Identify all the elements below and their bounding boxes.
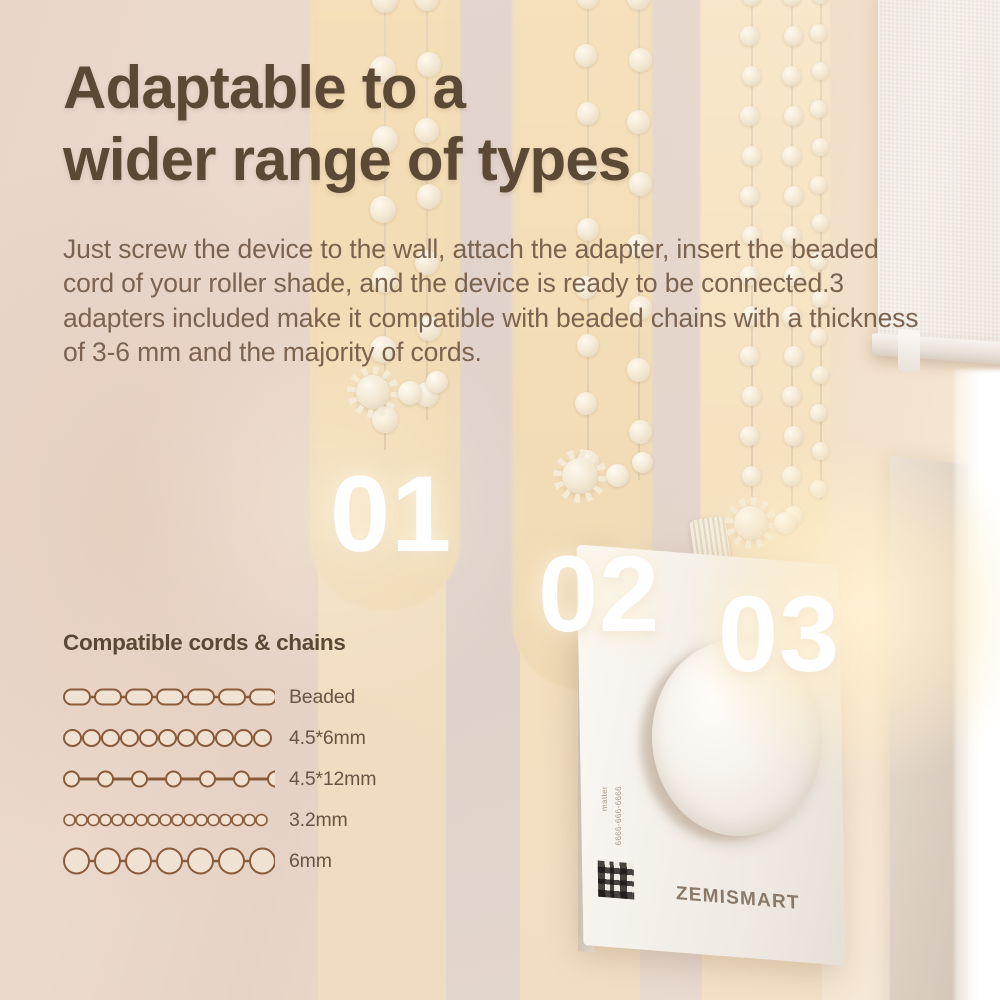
matter-label: matter xyxy=(600,786,609,812)
page-title: Adaptable to a wider range of types xyxy=(63,52,763,196)
chain-bead xyxy=(742,386,761,406)
legend-label: 6mm xyxy=(289,850,332,873)
adapter-bead xyxy=(606,464,629,487)
adapter-gear-icon xyxy=(562,458,598,494)
chain-bead xyxy=(784,106,803,126)
legend-row: 3.2mm xyxy=(63,801,483,839)
legend-label: 4.5*12mm xyxy=(289,768,376,791)
chain-bead xyxy=(810,404,827,422)
adapter-gear-icon xyxy=(356,375,390,409)
legend-title: Compatible cords & chains xyxy=(63,630,483,656)
matter-code: 6666-666-6666 xyxy=(614,786,623,846)
chain-bead xyxy=(810,100,827,118)
chain-beaded-oval-icon xyxy=(63,682,275,712)
step-number-01: 01 xyxy=(330,460,452,568)
adapter-bead xyxy=(398,381,422,405)
chain-bead xyxy=(812,138,829,156)
legend-label: 4.5*6mm xyxy=(289,727,366,750)
chain-45x12-icon xyxy=(63,764,275,794)
chain-32mm-icon xyxy=(63,805,275,835)
chain-bead xyxy=(812,214,829,232)
legend-label: Beaded xyxy=(289,686,355,709)
heading-line-1: Adaptable to a xyxy=(63,52,763,124)
legend-row-list: Beaded4.5*6mm4.5*12mm3.2mm6mm xyxy=(63,678,483,880)
legend-row: 6mm xyxy=(63,842,483,880)
legend-row: 4.5*6mm xyxy=(63,719,483,757)
legend-label: 3.2mm xyxy=(289,809,348,832)
chain-bead xyxy=(629,420,652,444)
adapter-bead xyxy=(426,371,448,393)
chain-bead xyxy=(784,186,803,206)
heading-line-2: wider range of types xyxy=(63,124,763,196)
step-number-03: 03 xyxy=(718,580,840,688)
chain-bead xyxy=(784,26,803,46)
chain-bead xyxy=(810,176,827,194)
chain-bead xyxy=(812,62,829,80)
legend-row: Beaded xyxy=(63,678,483,716)
legend-row: 4.5*12mm xyxy=(63,760,483,798)
body-paragraph: Just screw the device to the wall, attac… xyxy=(63,232,923,370)
chain-6mm-icon xyxy=(63,846,275,876)
step-number-02: 02 xyxy=(538,540,660,648)
product-marketing-scene: matter 6666-666-6666 ZEMISMART 01 02 03 … xyxy=(0,0,1000,1000)
qr-code xyxy=(598,861,635,900)
compatible-cords-legend: Compatible cords & chains Beaded4.5*6mm4… xyxy=(63,630,483,883)
chain-45x6-icon xyxy=(63,723,275,753)
chain-bead xyxy=(810,24,827,42)
adapter-bead xyxy=(632,452,653,473)
